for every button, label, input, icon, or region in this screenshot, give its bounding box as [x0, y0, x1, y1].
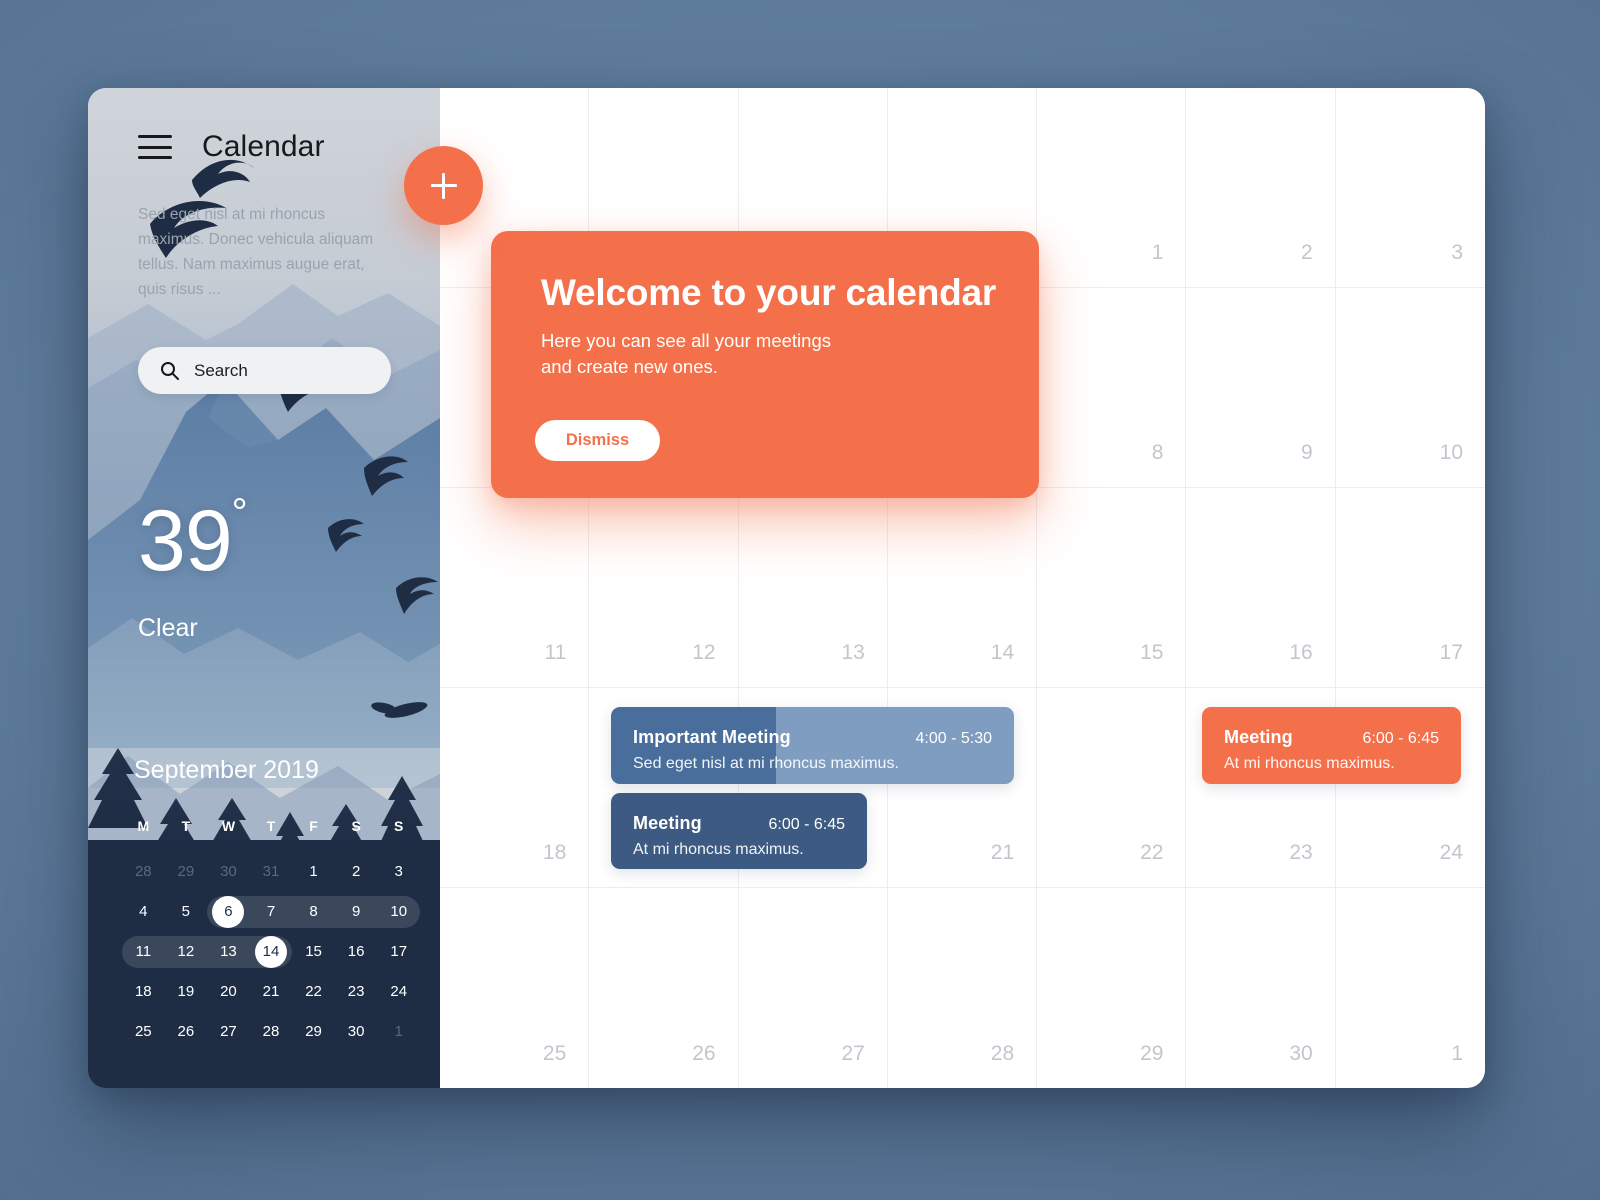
add-event-button[interactable]: +	[404, 146, 483, 225]
mini-day[interactable]: 29	[292, 1012, 335, 1052]
day-number: 12	[692, 641, 715, 665]
calendar-cell[interactable]: 22	[1037, 688, 1186, 888]
calendar-cell[interactable]: 17	[1336, 488, 1485, 688]
day-number: 9	[1301, 441, 1313, 465]
month-label: September 2019	[134, 756, 319, 785]
welcome-banner: Welcome to your calendar Here you can se…	[491, 231, 1039, 498]
mini-day[interactable]: 30	[207, 852, 250, 892]
event-description: At mi rhoncus maximus.	[633, 841, 845, 859]
mini-calendar-week: 4 5 6 7 8 9 10	[122, 892, 420, 932]
app-title: Calendar	[202, 130, 325, 164]
day-number: 17	[1440, 641, 1463, 665]
mini-calendar-dow-row: M T W T F S S	[122, 818, 420, 852]
mini-day[interactable]: 2	[335, 852, 378, 892]
mini-day-selected-start[interactable]: 6	[207, 892, 250, 932]
calendar-cell[interactable]: 29	[1037, 888, 1186, 1088]
sidebar-description: Sed eget nisl at mi rhoncus maximus. Don…	[138, 202, 383, 302]
calendar-cell[interactable]: 11	[440, 488, 589, 688]
mini-calendar-week: 25 26 27 28 29 30 1	[122, 1012, 420, 1052]
mini-day[interactable]: 27	[207, 1012, 250, 1052]
degree-symbol: °	[232, 491, 247, 535]
event-description: At mi rhoncus maximus.	[1224, 755, 1439, 773]
dow-label: T	[165, 818, 208, 852]
day-number: 24	[1440, 841, 1463, 865]
mini-calendar-week: 18 19 20 21 22 23 24	[122, 972, 420, 1012]
calendar-cell[interactable]: 9	[1186, 288, 1335, 488]
calendar-cell[interactable]: 2	[1186, 88, 1335, 288]
calendar-cell[interactable]: 1	[1037, 88, 1186, 288]
calendar-cell[interactable]: 12	[589, 488, 738, 688]
mini-day[interactable]: 26	[165, 1012, 208, 1052]
mini-day[interactable]: 19	[165, 972, 208, 1012]
dow-label: M	[122, 818, 165, 852]
calendar-cell[interactable]: 27	[739, 888, 888, 1088]
mini-day[interactable]: 1	[377, 1012, 420, 1052]
calendar-cell[interactable]: 14	[888, 488, 1037, 688]
temperature-value: 39	[138, 493, 232, 589]
event-card-important-meeting[interactable]: Important Meeting 4:00 - 5:30 Sed eget n…	[611, 707, 1014, 784]
day-number: 16	[1289, 641, 1312, 665]
hamburger-menu-icon[interactable]	[138, 135, 172, 159]
day-number: 2	[1301, 241, 1313, 265]
day-number: 15	[1140, 641, 1163, 665]
dismiss-button[interactable]: Dismiss	[535, 420, 660, 461]
calendar-cell[interactable]: 18	[440, 688, 589, 888]
calendar-cell[interactable]: 10	[1336, 288, 1485, 488]
dow-label: T	[250, 818, 293, 852]
event-time: 4:00 - 5:30	[916, 730, 993, 748]
calendar-cell[interactable]: 28	[888, 888, 1037, 1088]
mini-day[interactable]: 15	[292, 932, 335, 972]
day-number: 29	[1140, 1042, 1163, 1066]
mini-day[interactable]: 11	[122, 932, 165, 972]
mini-day[interactable]: 18	[122, 972, 165, 1012]
sidebar-header: Calendar	[138, 130, 325, 164]
search-icon	[160, 361, 179, 380]
mini-day[interactable]: 28	[250, 1012, 293, 1052]
search-input-text: Search	[194, 361, 248, 381]
day-number: 21	[991, 841, 1014, 865]
dow-label: W	[207, 818, 250, 852]
day-number: 30	[1289, 1042, 1312, 1066]
event-title: Meeting	[1224, 727, 1293, 748]
weather-condition: Clear	[138, 614, 198, 643]
calendar-cell[interactable]: 16	[1186, 488, 1335, 688]
mini-day[interactable]: 28	[122, 852, 165, 892]
day-number: 26	[692, 1042, 715, 1066]
calendar-cell[interactable]: 13	[739, 488, 888, 688]
mini-day[interactable]: 29	[165, 852, 208, 892]
day-number: 10	[1440, 441, 1463, 465]
mini-day[interactable]: 20	[207, 972, 250, 1012]
event-time: 6:00 - 6:45	[769, 816, 846, 834]
mini-day[interactable]: 17	[377, 932, 420, 972]
banner-body-line-1: Here you can see all your meetings	[541, 328, 831, 354]
day-number: 3	[1451, 241, 1463, 265]
mini-day[interactable]: 1	[292, 852, 335, 892]
calendar-cell[interactable]: 25	[440, 888, 589, 1088]
event-card-meeting-orange[interactable]: Meeting 6:00 - 6:45 At mi rhoncus maximu…	[1202, 707, 1461, 784]
day-number: 23	[1289, 841, 1312, 865]
mini-day[interactable]: 22	[292, 972, 335, 1012]
calendar-cell[interactable]: 30	[1186, 888, 1335, 1088]
mini-day[interactable]: 16	[335, 932, 378, 972]
day-number: 13	[841, 641, 864, 665]
event-description: Sed eget nisl at mi rhoncus maximus.	[633, 755, 992, 773]
event-card-meeting-blue[interactable]: Meeting 6:00 - 6:45 At mi rhoncus maximu…	[611, 793, 867, 869]
calendar-cell[interactable]: 3	[1336, 88, 1485, 288]
event-time: 6:00 - 6:45	[1363, 730, 1440, 748]
mini-day[interactable]: 3	[377, 852, 420, 892]
dow-label: S	[377, 818, 420, 852]
day-number: 14	[991, 641, 1014, 665]
mini-day[interactable]: 9	[335, 892, 378, 932]
mini-day[interactable]: 8	[292, 892, 335, 932]
banner-body-line-2: and create new ones.	[541, 354, 831, 380]
dow-label: S	[335, 818, 378, 852]
day-number: 22	[1140, 841, 1163, 865]
mini-calendar-week: 28 29 30 31 1 2 3	[122, 852, 420, 892]
calendar-cell[interactable]: 1	[1336, 888, 1485, 1088]
mini-day[interactable]: 31	[250, 852, 293, 892]
sidebar: Calendar Sed eget nisl at mi rhoncus max…	[88, 88, 440, 1088]
mini-day[interactable]: 7	[250, 892, 293, 932]
app-window: Calendar Sed eget nisl at mi rhoncus max…	[88, 88, 1485, 1088]
mini-day[interactable]: 4	[122, 892, 165, 932]
day-number: 28	[991, 1042, 1014, 1066]
weather-temperature: 39°	[138, 501, 247, 583]
search-input[interactable]: Search	[138, 347, 391, 394]
mini-day[interactable]: 5	[165, 892, 208, 932]
event-title: Meeting	[633, 813, 702, 834]
day-number: 8	[1152, 441, 1164, 465]
calendar-cell[interactable]: 15	[1037, 488, 1186, 688]
day-number: 11	[544, 641, 566, 665]
mini-day[interactable]: 23	[335, 972, 378, 1012]
day-number: 27	[841, 1042, 864, 1066]
mini-day-selected-end[interactable]: 14	[250, 932, 293, 972]
day-number: 25	[543, 1042, 566, 1066]
day-number: 1	[1451, 1042, 1463, 1066]
mini-day[interactable]: 10	[377, 892, 420, 932]
mini-calendar-week: 11 12 13 14 15 16 17	[122, 932, 420, 972]
banner-body: Here you can see all your meetings and c…	[541, 328, 831, 380]
event-title: Important Meeting	[633, 727, 791, 748]
calendar-cell[interactable]: 8	[1037, 288, 1186, 488]
calendar-cell[interactable]: 26	[589, 888, 738, 1088]
mini-day[interactable]: 30	[335, 1012, 378, 1052]
mini-calendar[interactable]: M T W T F S S 28 29 30 31 1 2 3 4 5	[122, 818, 420, 1052]
mini-day[interactable]: 13	[207, 932, 250, 972]
mini-day[interactable]: 12	[165, 932, 208, 972]
day-number: 18	[543, 841, 566, 865]
dow-label: F	[292, 818, 335, 852]
day-number: 1	[1152, 241, 1164, 265]
mini-day[interactable]: 21	[250, 972, 293, 1012]
banner-heading: Welcome to your calendar	[541, 272, 996, 314]
mini-day[interactable]: 25	[122, 1012, 165, 1052]
mini-day[interactable]: 24	[377, 972, 420, 1012]
